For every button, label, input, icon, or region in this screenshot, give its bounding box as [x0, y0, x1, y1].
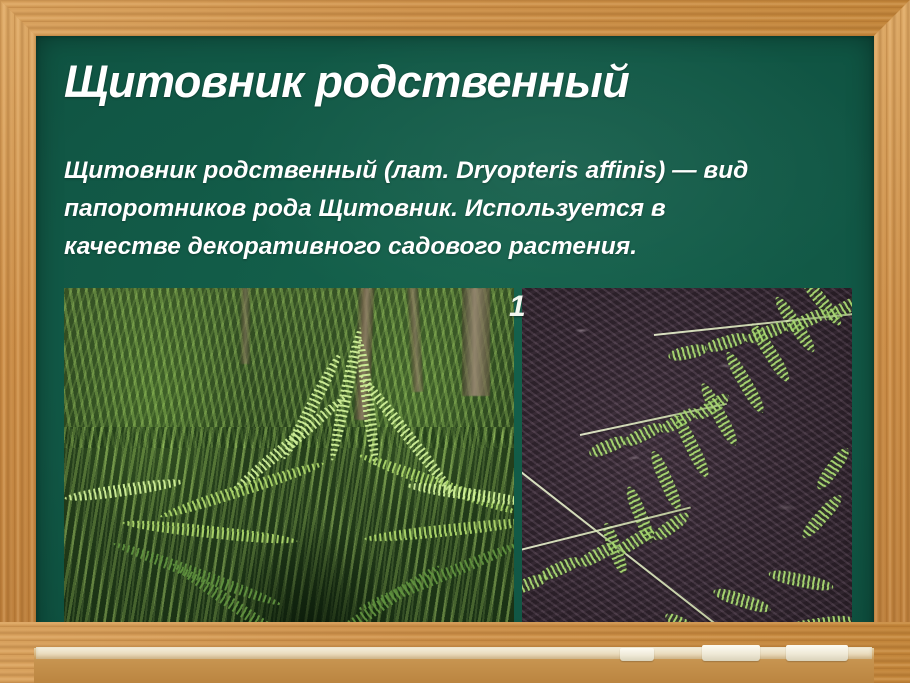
- fern-fronds-on-soil-photo[interactable]: [522, 288, 852, 642]
- tree-trunk: [462, 288, 490, 396]
- body-line: Щитовник родственный (лат. Dryopteris af…: [64, 152, 764, 190]
- frame-left-stile: [0, 0, 40, 683]
- chalk-piece[interactable]: [702, 645, 760, 661]
- fern-in-forest-photo[interactable]: [64, 288, 514, 642]
- chalkboard: Щитовник родственный Щитовник родственны…: [36, 34, 874, 648]
- page-title: Щитовник родственный: [64, 58, 824, 105]
- tree-trunk: [240, 288, 250, 364]
- body-paragraph: Щитовник родственный (лат. Dryopteris af…: [64, 152, 764, 266]
- chalk-piece[interactable]: [786, 645, 848, 661]
- slide-number-mark: 1: [509, 292, 526, 322]
- forest-canopy: [64, 288, 514, 448]
- chalk-piece[interactable]: [620, 648, 654, 661]
- frame-top-rail: [0, 0, 910, 36]
- presentation-slide: Щитовник родственный Щитовник родственны…: [0, 0, 910, 683]
- frame-right-stile: [872, 0, 910, 683]
- body-line: качестве декоративного садового растения…: [64, 228, 764, 266]
- body-line: папоротников рода Щитовник. Используется…: [64, 190, 764, 228]
